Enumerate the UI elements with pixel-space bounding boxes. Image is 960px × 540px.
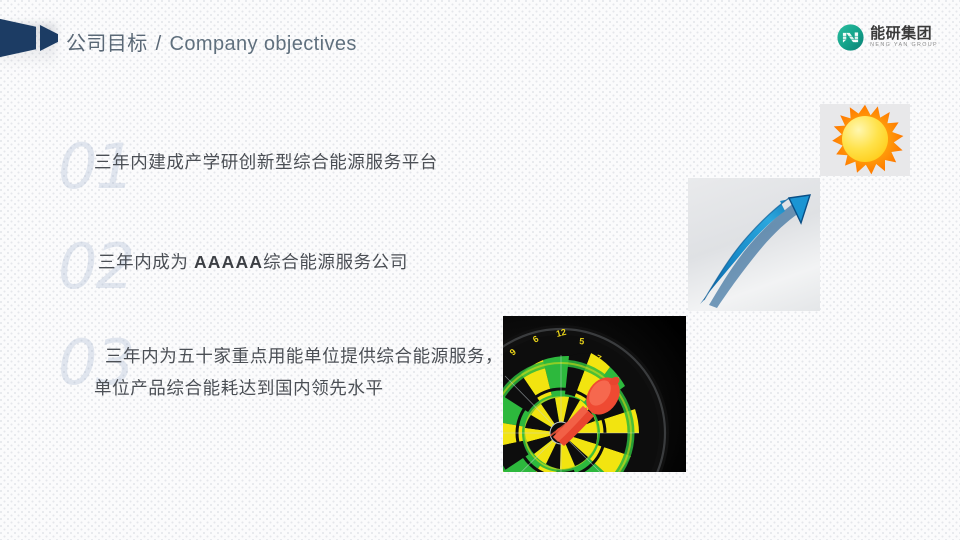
objective-item-01: 01 三年内建成产学研创新型综合能源服务平台 bbox=[58, 136, 528, 168]
blue-growth-arrow-illustration-image bbox=[688, 178, 820, 311]
header-ribbon-decoration bbox=[0, 18, 58, 62]
page-title-chinese: 公司目标 bbox=[66, 33, 148, 55]
objective-text-after: 综合能源服务公司 bbox=[263, 252, 408, 272]
objective-item-03: 03 三年内为五十家重点用能单位提供综合能源服务，单位产品综合能耗达到国内领先水… bbox=[58, 332, 468, 396]
sun-illustration-image bbox=[820, 104, 910, 176]
svg-text:5: 5 bbox=[579, 336, 585, 346]
objective-text-before: 三年内成为 bbox=[98, 252, 194, 272]
upward-arrow-icon bbox=[688, 178, 820, 311]
logo-name-english: NENG YAN GROUP bbox=[870, 43, 938, 48]
objective-text: 三年内建成产学研创新型综合能源服务平台 bbox=[94, 146, 564, 178]
dartboard-with-red-dart-photo: 9 6 12 5 7 1 18 4 bbox=[503, 316, 686, 472]
logo-name-chinese: 能研集团 bbox=[870, 26, 932, 41]
page-title-english: Company objectives bbox=[170, 33, 357, 55]
objective-item-02: 02 三年内成为 AAAAA综合能源服务公司 bbox=[58, 236, 528, 268]
objective-text: 三年内成为 AAAAA综合能源服务公司 bbox=[98, 246, 568, 278]
sun-core bbox=[842, 116, 888, 162]
page-title-separator: / bbox=[154, 33, 164, 55]
nengyan-circular-n-mark-icon bbox=[837, 24, 864, 51]
company-logo: 能研集团 NENG YAN GROUP bbox=[837, 24, 938, 51]
page-title: 公司目标 / Company objectives bbox=[66, 27, 357, 56]
sun-graphic bbox=[820, 104, 910, 176]
objective-text-emphasis: AAAAA bbox=[194, 252, 263, 272]
objective-text: 三年内为五十家重点用能单位提供综合能源服务，单位产品综合能耗达到国内领先水平 bbox=[94, 340, 504, 404]
logo-wordmark: 能研集团 NENG YAN GROUP bbox=[870, 26, 938, 48]
dartboard-graphic: 9 6 12 5 7 1 18 4 bbox=[503, 316, 686, 472]
slide-canvas: 公司目标 / Company objectives 能研集团 NENG YAN … bbox=[0, 0, 960, 540]
